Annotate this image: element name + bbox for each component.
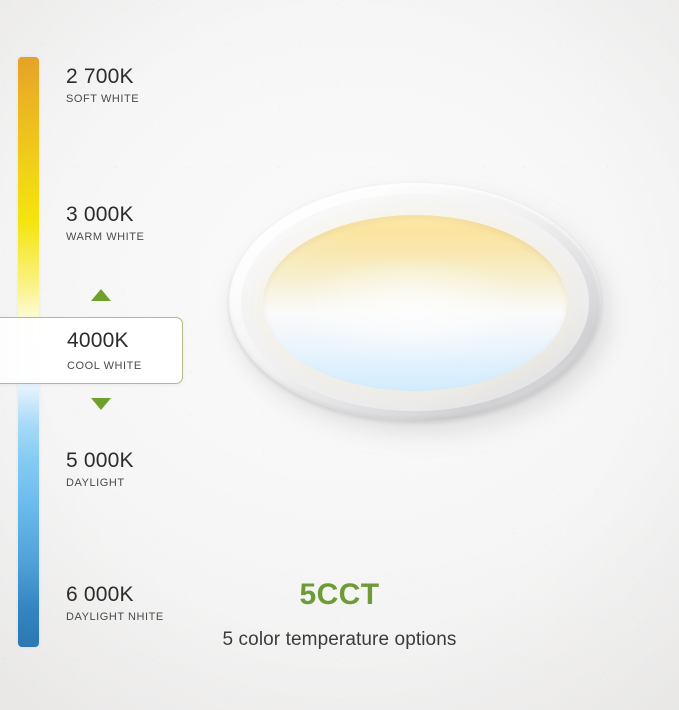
triangle-down-icon[interactable] [91, 398, 111, 410]
led-ceiling-light-fixture [229, 183, 601, 421]
product-infographic-scene: 2 700K SOFT WHITE 3 000K WARM WHITE 4000… [0, 0, 679, 710]
fixture-light-diffuser [263, 215, 567, 392]
kelvin-name-5000k: DAYLIGHT [66, 478, 134, 489]
kelvin-value-2700k: 2 700K [66, 66, 139, 87]
kelvin-entry-2700k: 2 700K SOFT WHITE [66, 66, 139, 105]
caption-block: 5CCT 5 color temperature options [0, 580, 679, 649]
kelvin-value-4000k: 4000K [67, 330, 129, 351]
kelvin-value-5000k: 5 000K [66, 450, 134, 471]
kelvin-name-4000k: COOL WHITE [67, 361, 142, 372]
fixture-inner-rim [241, 194, 589, 411]
kelvin-entry-5000k: 5 000K DAYLIGHT [66, 450, 134, 489]
kelvin-value-3000k: 3 000K [66, 204, 144, 225]
caption-subtitle: 5 color temperature options [0, 630, 679, 649]
fixture-glow-highlight [300, 261, 531, 367]
kelvin-name-2700k: SOFT WHITE [66, 94, 139, 105]
triangle-up-icon[interactable] [91, 289, 111, 301]
fixture-outer-rim [229, 183, 601, 421]
kelvin-name-3000k: WARM WHITE [66, 232, 144, 243]
caption-headline: 5CCT [0, 580, 679, 610]
kelvin-entry-3000k: 3 000K WARM WHITE [66, 204, 144, 243]
kelvin-entry-4000k-selected[interactable]: 4000K COOL WHITE [0, 317, 183, 384]
